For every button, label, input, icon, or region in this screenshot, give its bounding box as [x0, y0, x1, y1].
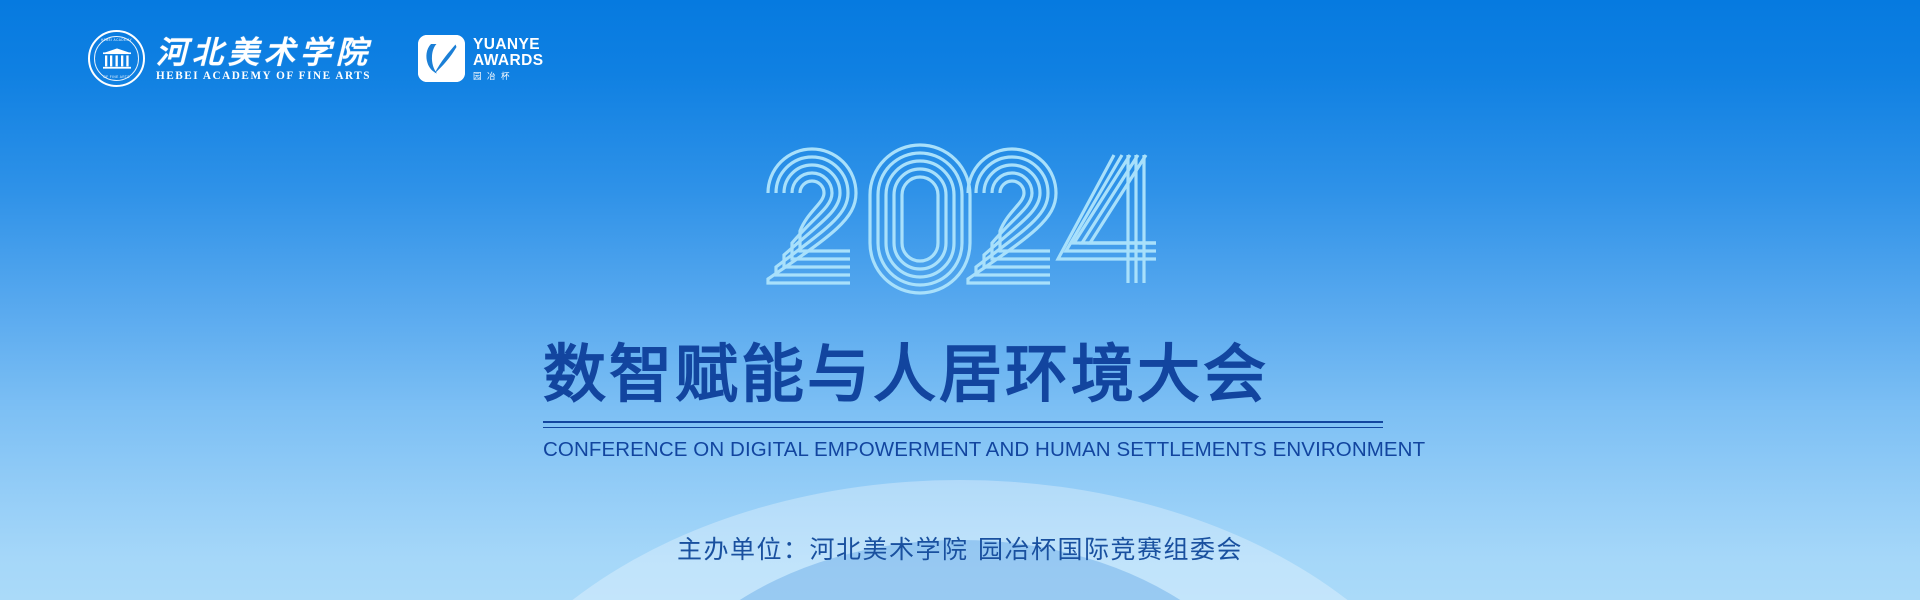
title-divider-rule: [543, 421, 1383, 428]
conference-banner: HEBEI ACADEMY OF FINE ARTS 河北美术学院 HEBEI …: [0, 0, 1920, 600]
divider-line-thick: [543, 421, 1383, 424]
yuanye-glyph-icon: [418, 35, 465, 82]
academy-name-block: 河北美术学院 HEBEI ACADEMY OF FINE ARTS: [156, 35, 372, 83]
logo-hebei-academy[interactable]: HEBEI ACADEMY OF FINE ARTS 河北美术学院 HEBEI …: [88, 30, 372, 87]
headline-block: 数智赋能与人居环境大会 CONFERENCE ON DIGITAL EMPOWE…: [543, 342, 1383, 462]
conference-title-en: CONFERENCE ON DIGITAL EMPOWERMENT AND HU…: [543, 439, 1383, 462]
yuanye-line2: AWARDS: [473, 53, 543, 69]
yuanye-line3-cn: 园冶杯: [473, 72, 543, 81]
seal-ring-bottom-text: OF FINE ARTS: [103, 75, 130, 79]
year-2024-graphic: [762, 143, 1164, 295]
academy-seal-icon: HEBEI ACADEMY OF FINE ARTS: [88, 30, 145, 87]
logo-row: HEBEI ACADEMY OF FINE ARTS 河北美术学院 HEBEI …: [88, 30, 543, 87]
year-2024-svg: [762, 143, 1164, 295]
yuanye-text-block: YUANYE AWARDS 园冶杯: [473, 37, 543, 81]
logo-yuanye-awards[interactable]: YUANYE AWARDS 园冶杯: [418, 35, 543, 82]
organizer-line: 主办单位：河北美术学院 园冶杯国际竞赛组委会: [0, 530, 1920, 566]
yuanye-line1: YUANYE: [473, 37, 543, 53]
seal-ring-top-text: HEBEI ACADEMY: [101, 38, 132, 42]
conference-title-cn: 数智赋能与人居环境大会: [543, 342, 1383, 409]
academy-name-cn: 河北美术学院: [156, 35, 372, 70]
academy-name-en: HEBEI ACADEMY OF FINE ARTS: [156, 71, 372, 82]
yuanye-mark-icon: [418, 35, 465, 82]
divider-line-thin: [543, 427, 1383, 428]
gate-building-icon: [102, 48, 132, 70]
